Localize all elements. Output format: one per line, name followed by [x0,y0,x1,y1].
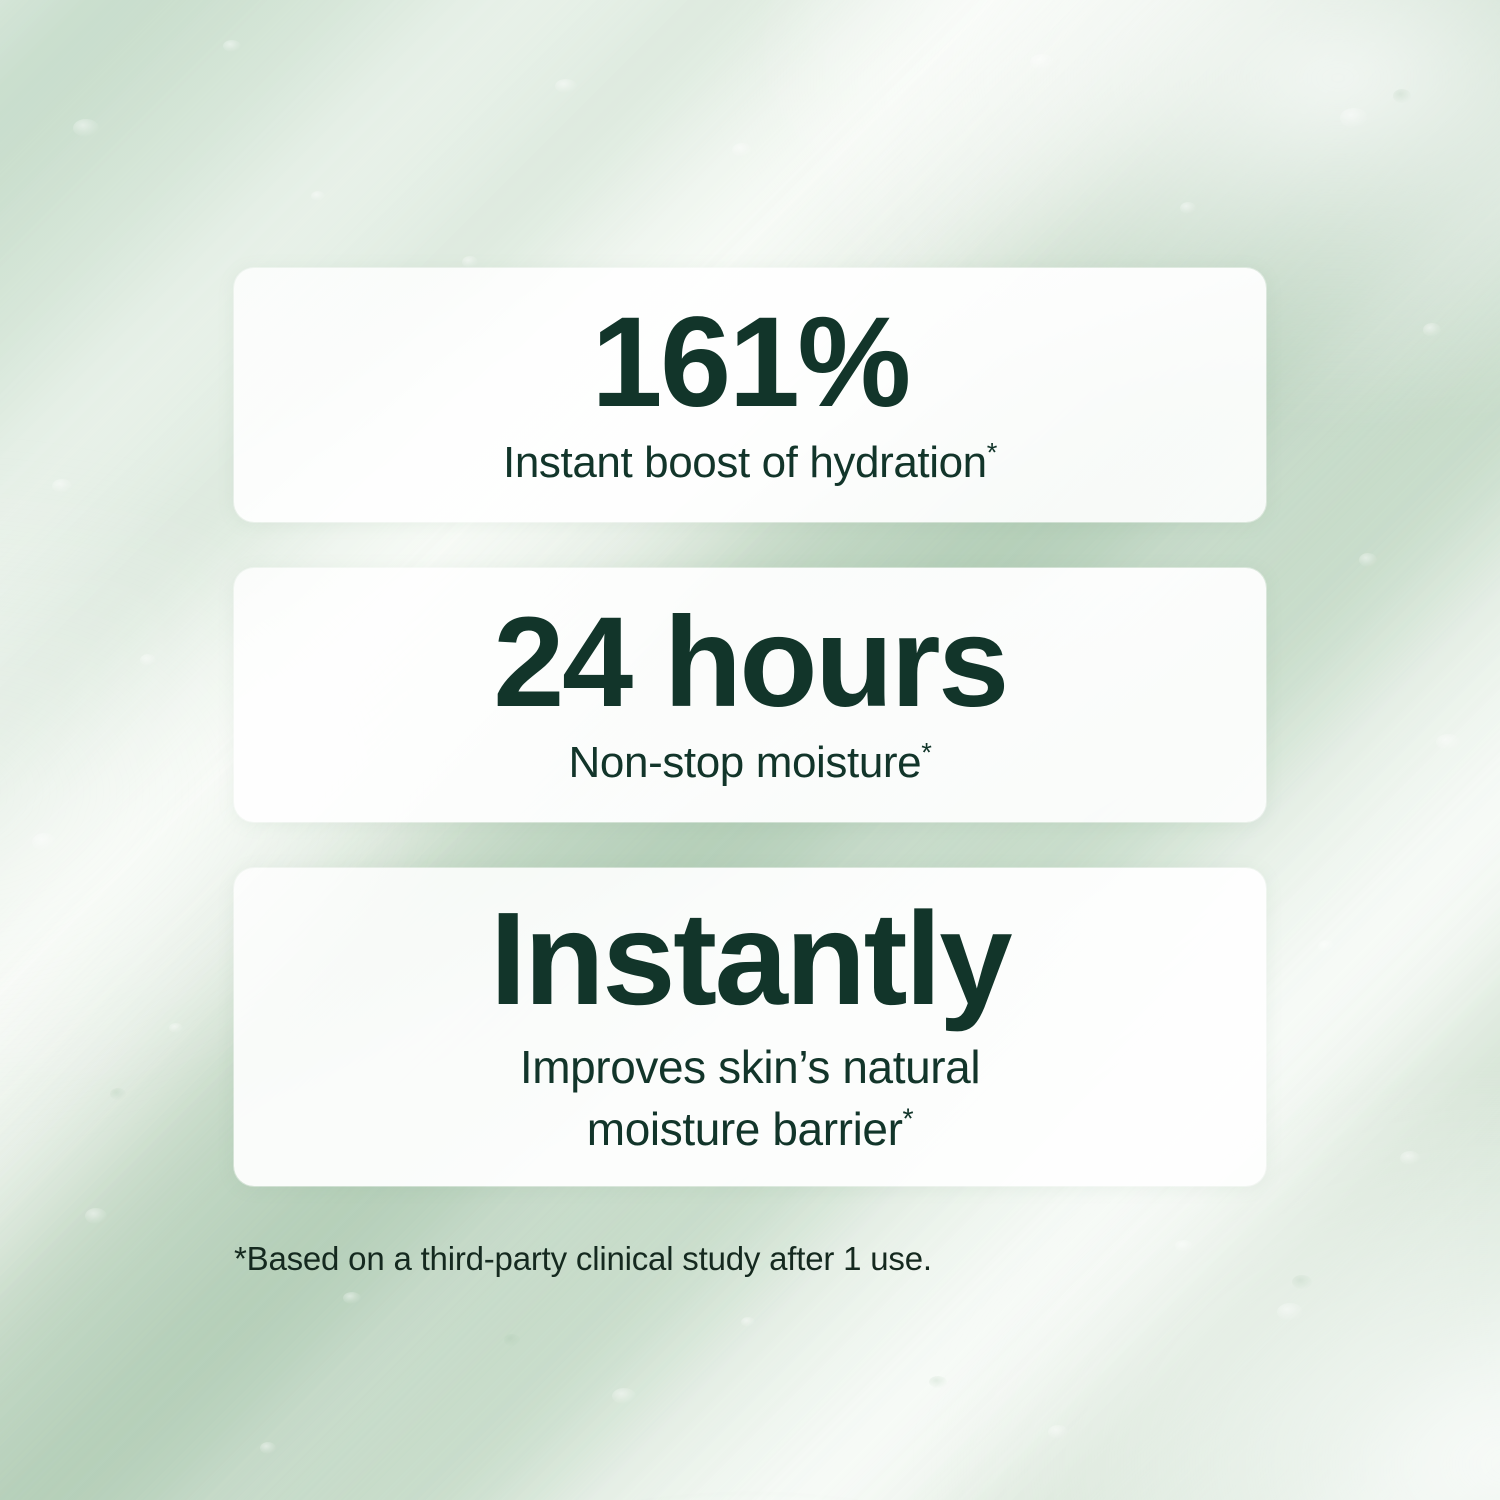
footnote-disclaimer: *Based on a third-party clinical study a… [234,1240,1334,1278]
claim-subline-text: Instant boost of hydration [503,438,987,487]
claim-subline-line-2-wrap: moisture barrier* [520,1099,980,1161]
footnote-marker: * [921,736,931,767]
claim-headline: Instantly [490,893,1010,1025]
footnote-marker: * [903,1104,914,1136]
claim-subline-text: Non-stop moisture [569,738,922,787]
infographic-stage: 161% Instant boost of hydration* 24 hour… [0,0,1500,1500]
footnote-marker: * [987,436,997,467]
claim-subline-line-2: moisture barrier [587,1103,903,1155]
claim-headline: 161% [591,299,908,427]
claim-subline: Improves skin’s natural moisture barrier… [520,1037,980,1160]
claim-headline: 24 hours [493,599,1007,727]
claim-subline: Non-stop moisture* [569,735,932,791]
claim-subline: Instant boost of hydration* [503,435,997,491]
claim-card-hydration-boost: 161% Instant boost of hydration* [234,268,1266,522]
claim-card-24-hours: 24 hours Non-stop moisture* [234,568,1266,822]
claim-card-moisture-barrier: Instantly Improves skin’s natural moistu… [234,868,1266,1186]
claim-subline-line-1: Improves skin’s natural [520,1037,980,1099]
